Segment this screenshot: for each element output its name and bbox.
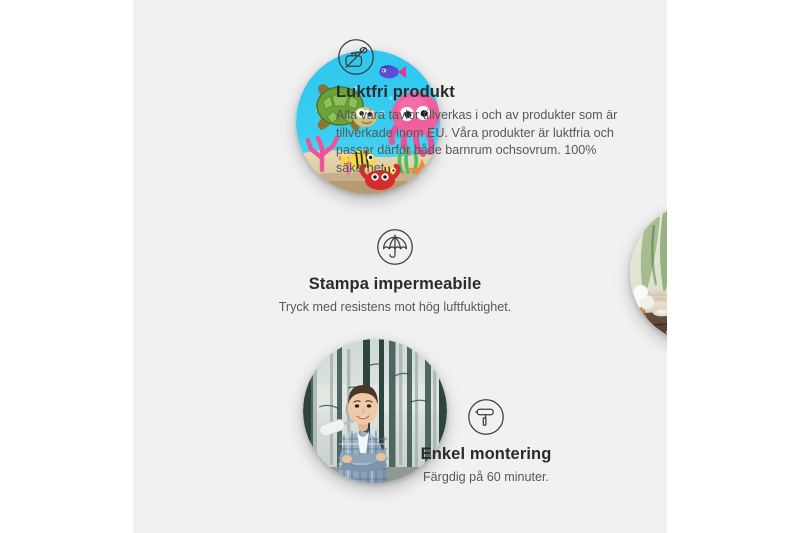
feature-odourless: Luktfri produkt Alla våra tavlor tillver…	[336, 38, 636, 177]
feature-icon-wrap	[220, 228, 570, 266]
image-bathroom-mural	[630, 203, 667, 343]
feature-title: Enkel montering	[336, 445, 636, 464]
feature-description: Tryck med resistens mot hög luftfuktighe…	[220, 299, 570, 317]
content-panel: Luktfri produkt Alla våra tavlor tillver…	[133, 0, 667, 533]
umbrella-icon	[376, 228, 414, 266]
feature-icon-wrap	[336, 398, 636, 436]
feature-description: Färgdig på 60 minuter.	[336, 469, 636, 487]
feature-waterproof: Stampa impermeabile Tryck med resistens …	[220, 228, 570, 317]
feature-title: Luktfri produkt	[336, 83, 636, 102]
feature-easy-mounting: Enkel montering Färgdig på 60 minuter.	[336, 398, 636, 487]
feature-description: Alla våra tavlor tillverkas i och av pro…	[336, 107, 628, 177]
feature-title: Stampa impermeabile	[220, 275, 570, 294]
feature-icon-wrap	[337, 38, 636, 76]
promo-banner: Luktfri produkt Alla våra tavlor tillver…	[0, 0, 800, 533]
paint-roller-icon	[467, 398, 505, 436]
no-perfume-bottle-icon	[337, 38, 375, 76]
